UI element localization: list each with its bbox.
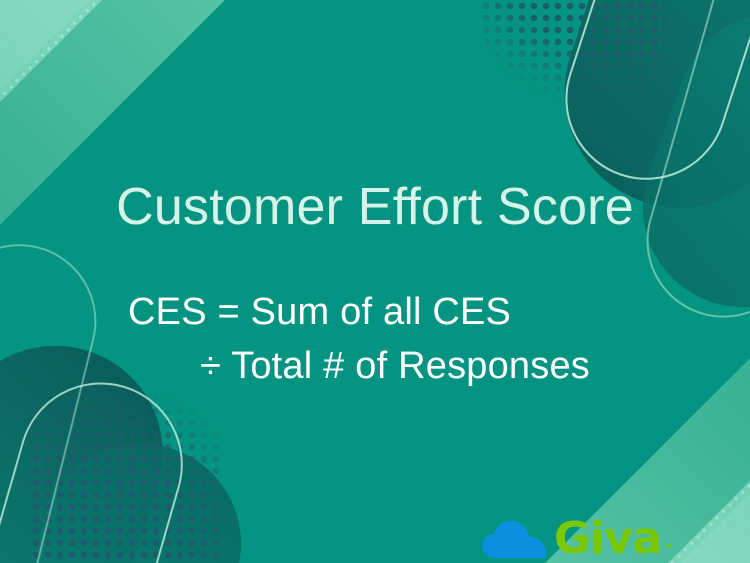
- cloud-icon: [482, 521, 546, 559]
- logo-wordmark: Giva: [554, 518, 662, 560]
- giva-logo: Giva ™: [482, 512, 672, 560]
- slide-canvas: Customer Effort Score CES = Sum of all C…: [0, 0, 750, 563]
- formula-line-numerator: CES = Sum of all CES: [128, 286, 688, 340]
- page-title: Customer Effort Score: [0, 178, 750, 236]
- formula-block: CES = Sum of all CES ÷ Total # of Respon…: [128, 286, 688, 394]
- slide-content: Customer Effort Score CES = Sum of all C…: [0, 0, 750, 563]
- trademark-mark: ™: [663, 543, 674, 554]
- formula-line-denominator: ÷ Total # of Responses: [128, 340, 688, 394]
